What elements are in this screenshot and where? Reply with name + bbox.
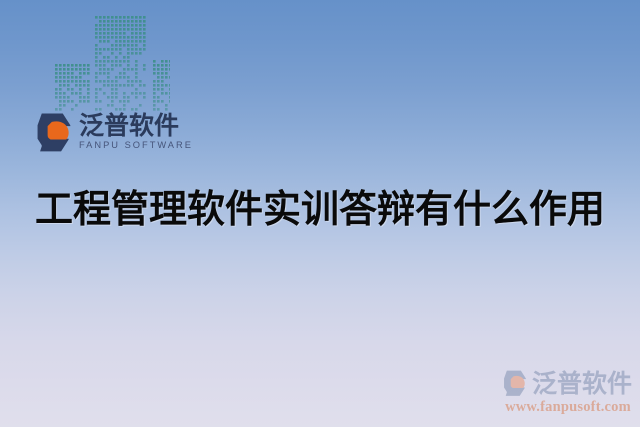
watermark-url: www.fanpusoft.com <box>498 399 638 416</box>
fanpu-hexagon-logo-icon <box>30 111 72 153</box>
pixel-skyline-icon <box>55 16 170 111</box>
logo-english-name: FANPU SOFTWARE <box>79 140 193 152</box>
watermark-logo-row: 泛普软件 <box>498 368 638 398</box>
logo-chinese-name: 泛普软件 <box>79 113 193 139</box>
banner-image: 泛普软件 FANPU SOFTWARE 工程管理软件实训答辩有什么作用 泛普软件… <box>0 0 640 427</box>
watermark-chinese-name: 泛普软件 <box>532 371 632 396</box>
watermark: 泛普软件 www.fanpusoft.com <box>498 368 638 418</box>
page-title: 工程管理软件实训答辩有什么作用 <box>0 186 640 234</box>
fanpu-hexagon-logo-watermark-icon <box>498 369 528 397</box>
logo-text-group: 泛普软件 FANPU SOFTWARE <box>79 113 193 152</box>
fanpu-logo: 泛普软件 FANPU SOFTWARE <box>30 108 190 156</box>
